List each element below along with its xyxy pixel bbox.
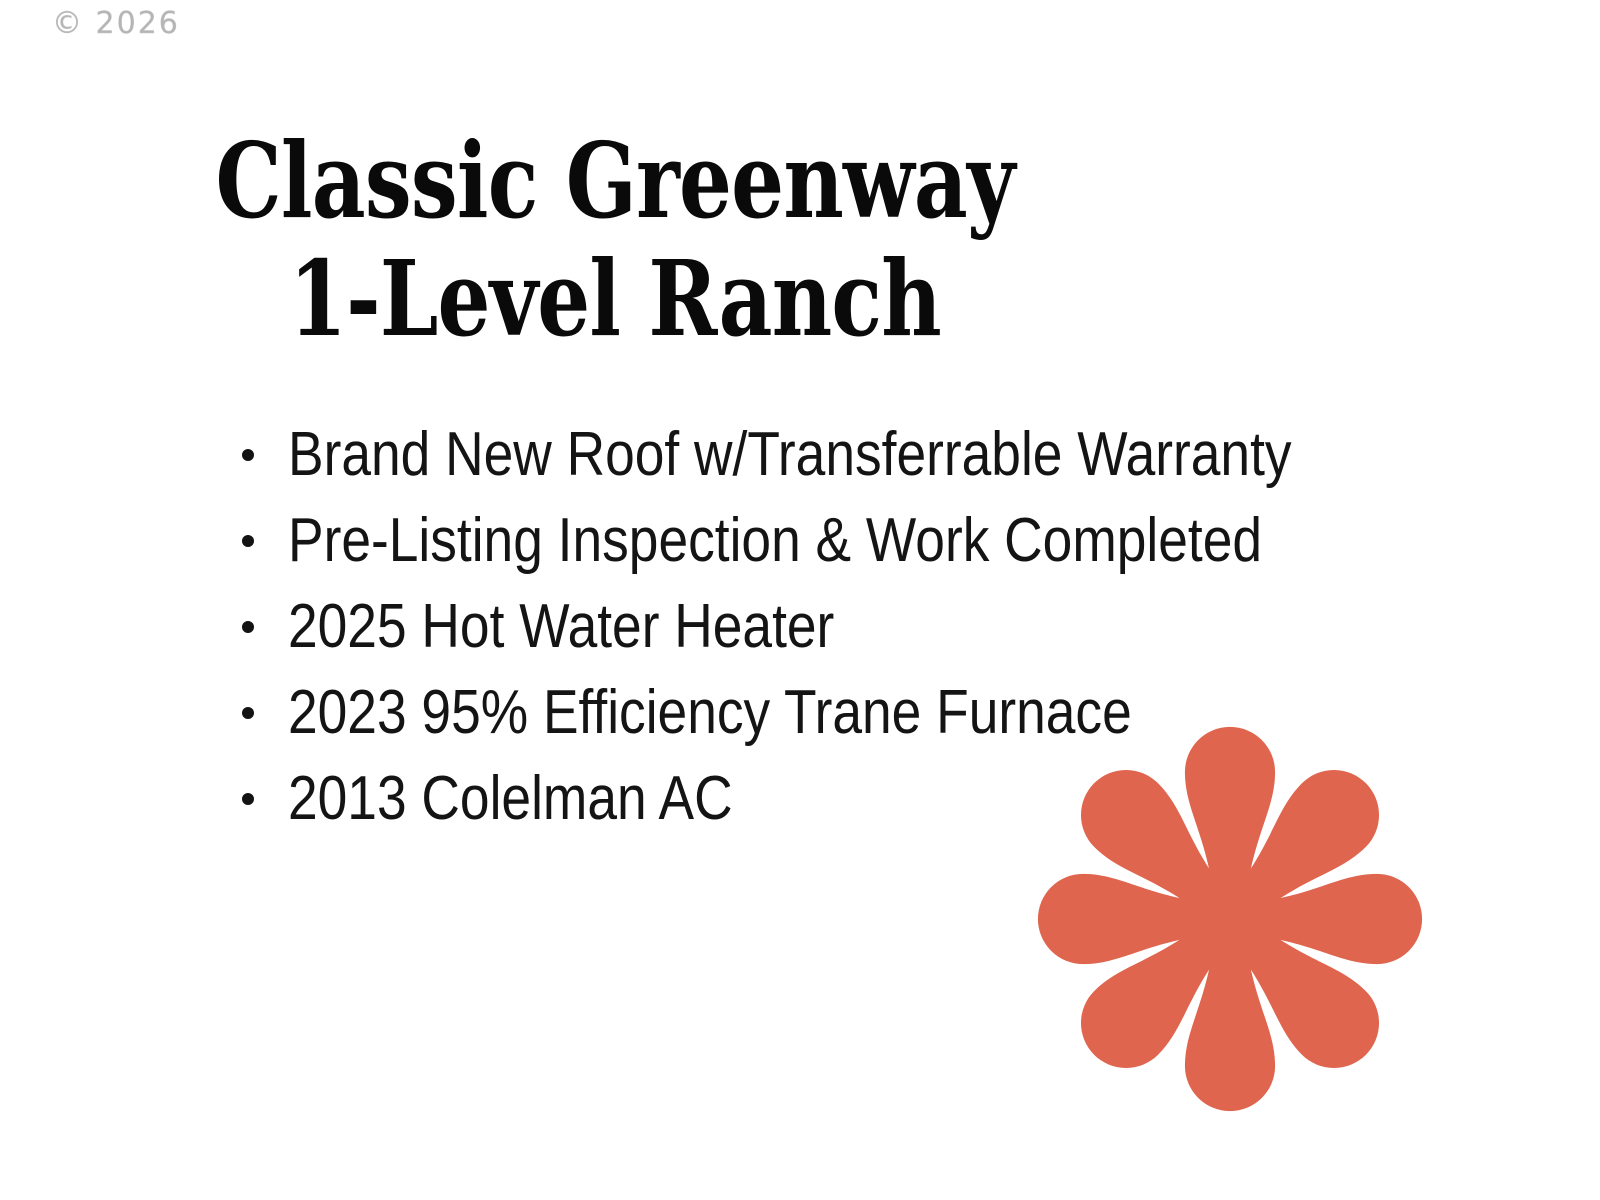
bullet-dot-icon: [242, 621, 254, 633]
list-item: Brand New Roof w/Transferrable Warranty: [236, 412, 1436, 498]
slide-canvas: © 2026 Classic Greenway 1-Level Ranch Br…: [0, 0, 1600, 1200]
bullet-dot-icon: [242, 707, 254, 719]
bullet-dot-icon: [242, 449, 254, 461]
list-item-label: 2013 Colelman AC: [288, 766, 733, 832]
title-line-2: 1-Level Ranch: [123, 240, 1107, 358]
flower-petals: [1038, 727, 1422, 1111]
list-item-label: Pre-Listing Inspection & Work Completed: [288, 508, 1262, 574]
list-item-label: 2023 95% Efficiency Trane Furnace: [288, 680, 1132, 746]
flower-decoration-icon: [1030, 723, 1430, 1115]
bullet-dot-icon: [242, 535, 254, 547]
list-item-label: Brand New Roof w/Transferrable Warranty: [288, 422, 1292, 488]
bullet-dot-icon: [242, 793, 254, 805]
page-title: Classic Greenway 1-Level Ranch: [0, 122, 1230, 358]
list-item-label: 2025 Hot Water Heater: [288, 594, 834, 660]
list-item: 2025 Hot Water Heater: [236, 584, 1436, 670]
flower-center: [1189, 878, 1271, 960]
copyright-watermark: © 2026: [52, 6, 180, 41]
list-item: Pre-Listing Inspection & Work Completed: [236, 498, 1436, 584]
title-line-1: Classic Greenway: [123, 122, 1107, 240]
